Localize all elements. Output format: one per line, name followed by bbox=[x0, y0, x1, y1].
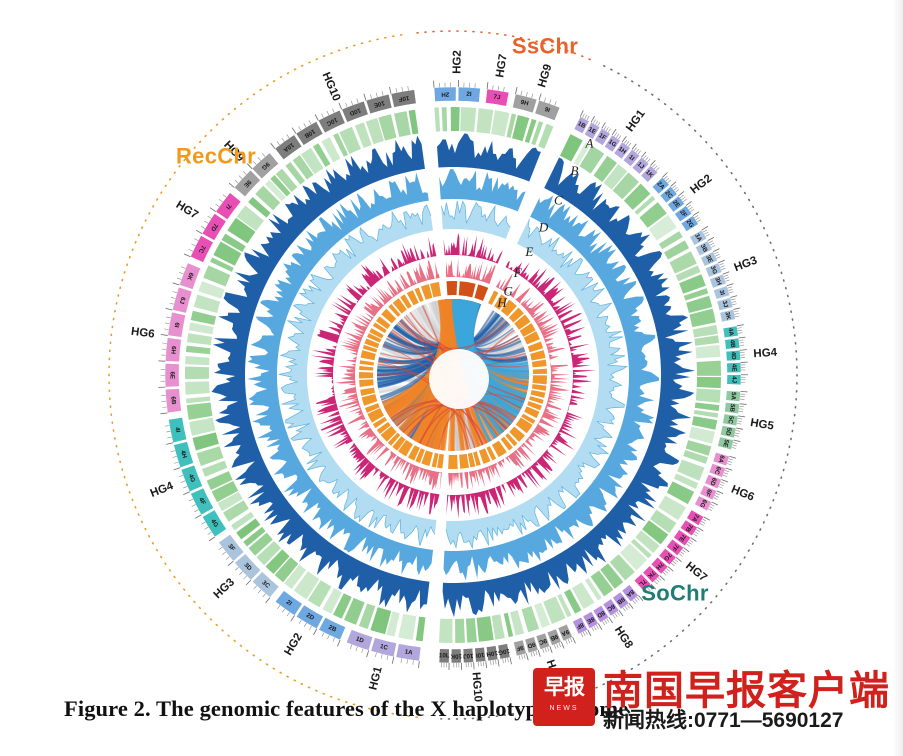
ideogram-tick bbox=[277, 141, 280, 145]
track-letter-b: B bbox=[570, 163, 578, 178]
ideogram-tick bbox=[686, 544, 690, 547]
hg-label: HG2 bbox=[451, 50, 463, 74]
ideogram-tick bbox=[304, 623, 306, 627]
ideogram-tick bbox=[570, 638, 572, 642]
ideogram-major-tick bbox=[736, 428, 743, 429]
gene-density-block bbox=[455, 619, 465, 643]
sv-block bbox=[532, 360, 547, 368]
ideogram-tick bbox=[716, 493, 720, 495]
ideogram-tick bbox=[508, 658, 509, 662]
ideogram-tick bbox=[694, 215, 698, 217]
ideogram-major-tick bbox=[712, 502, 718, 505]
ideogram-tick bbox=[709, 241, 713, 243]
sv-block bbox=[360, 388, 375, 396]
ideogram-tick bbox=[327, 635, 329, 639]
ideogram-tick bbox=[624, 140, 627, 144]
ideogram-tick bbox=[689, 540, 693, 543]
ideogram-tick bbox=[408, 86, 409, 90]
ideogram-tick bbox=[636, 149, 639, 152]
hg-label: HG4 bbox=[149, 480, 176, 500]
ideogram-tick bbox=[714, 498, 718, 500]
ideogram-tick bbox=[177, 278, 181, 279]
gene-density-block bbox=[191, 311, 216, 325]
gene-density-block bbox=[466, 618, 477, 643]
ideogram-tick bbox=[533, 652, 534, 656]
ideogram-tick bbox=[618, 136, 621, 140]
ideogram-major-tick bbox=[516, 87, 518, 94]
ideogram-tick bbox=[401, 658, 402, 662]
ideogram-tick bbox=[536, 651, 537, 655]
ideogram-tick bbox=[739, 340, 743, 341]
ideogram-major-tick bbox=[702, 226, 708, 230]
track-letter-e: E bbox=[524, 244, 533, 259]
ideogram-tick bbox=[666, 568, 669, 571]
ideogram-tick bbox=[681, 552, 685, 555]
ideogram-tick bbox=[627, 605, 630, 609]
ideogram-tick bbox=[235, 180, 238, 183]
ideogram-tick bbox=[635, 599, 638, 602]
ideogram-tick bbox=[504, 87, 505, 91]
gene-density-block bbox=[697, 361, 721, 376]
ideogram-tick bbox=[554, 645, 556, 649]
ideogram-major-tick bbox=[166, 308, 173, 310]
ideogram-tick bbox=[235, 567, 238, 570]
ideogram-tick bbox=[587, 116, 589, 120]
ideogram-tick bbox=[545, 648, 546, 652]
ideogram-tick bbox=[362, 649, 363, 653]
ideogram-major-tick bbox=[486, 661, 487, 668]
ideogram-tick bbox=[493, 85, 494, 89]
ideogram-tick bbox=[171, 451, 175, 452]
ideogram-band-label: 6B bbox=[169, 396, 177, 405]
ideogram-tick bbox=[557, 644, 559, 648]
sv-block bbox=[437, 454, 444, 469]
ideogram-band-label: 6E bbox=[168, 371, 175, 379]
gene-density-block bbox=[394, 111, 411, 137]
ideogram-tick bbox=[396, 88, 397, 92]
figure-root: 1A1C1D2B2D2I3C3D3F4G4F4G4H4I6B6E6H6I6J6K… bbox=[0, 0, 903, 756]
gene-density-block bbox=[442, 107, 447, 131]
track-letter-d: D bbox=[538, 220, 549, 235]
ideogram-tick bbox=[205, 527, 209, 529]
ideogram-tick bbox=[737, 328, 741, 329]
ideogram-major-tick bbox=[161, 334, 168, 335]
ideogram-major-tick bbox=[173, 283, 180, 285]
ideogram-tick bbox=[734, 311, 738, 312]
ideogram-tick bbox=[709, 506, 713, 508]
ideogram-tick bbox=[721, 268, 725, 270]
ideogram-band-label: 10J bbox=[462, 652, 473, 660]
ideogram-tick bbox=[547, 647, 548, 651]
ideogram-tick bbox=[596, 121, 598, 125]
ideogram-tick bbox=[583, 632, 585, 636]
ideogram-tick bbox=[735, 433, 739, 434]
ideogram-tick bbox=[204, 221, 208, 223]
ideogram-tick bbox=[263, 594, 266, 597]
gene-density-block bbox=[697, 377, 721, 388]
ideogram-tick bbox=[682, 197, 686, 200]
ideogram-tick bbox=[171, 297, 175, 298]
sv-block bbox=[474, 284, 488, 300]
sv-block bbox=[459, 454, 469, 469]
ideogram-tick bbox=[351, 101, 353, 105]
track-letter-a: A bbox=[584, 136, 593, 151]
gene-density-block bbox=[693, 325, 718, 337]
gene-density-block bbox=[696, 389, 721, 403]
snp-density-spikes bbox=[443, 233, 502, 264]
ideogram-tick bbox=[181, 267, 185, 269]
ideogram-band-label: 4E bbox=[730, 364, 737, 372]
ideogram-tick bbox=[495, 660, 496, 664]
ideogram-major-tick bbox=[713, 249, 719, 252]
ideogram-tick bbox=[376, 93, 377, 97]
ideogram-tick bbox=[381, 654, 382, 658]
ideogram-tick bbox=[582, 114, 584, 118]
ideogram-major-tick bbox=[721, 479, 728, 482]
ideogram-tick bbox=[613, 615, 615, 619]
group-label-sochr: SoChr bbox=[641, 581, 709, 606]
ideogram-band-label: 10K bbox=[450, 652, 462, 659]
ideogram-tick bbox=[370, 94, 371, 98]
ideogram-tick bbox=[239, 572, 242, 575]
ideogram-major-tick bbox=[727, 284, 734, 286]
ideogram-major-tick bbox=[718, 260, 724, 263]
ideogram-tick bbox=[287, 134, 290, 138]
gene-density-block bbox=[416, 617, 426, 642]
ideogram-tick bbox=[680, 195, 684, 198]
ideogram-tick bbox=[679, 554, 683, 557]
group-label-sschr: SsChr bbox=[512, 34, 578, 59]
ideogram-tick bbox=[737, 423, 741, 424]
ideogram-major-tick bbox=[174, 468, 181, 470]
ideogram-tick bbox=[652, 164, 655, 167]
ideogram-tick bbox=[723, 475, 727, 477]
gene-density-block bbox=[186, 396, 210, 403]
ideogram-tick bbox=[719, 263, 723, 265]
gene-density-block bbox=[491, 110, 509, 136]
ideogram-major-tick bbox=[315, 114, 318, 120]
ideogram-tick bbox=[165, 323, 169, 324]
gene-density-block bbox=[187, 402, 213, 419]
hg-label: HG2 bbox=[688, 173, 714, 197]
ideogram-major-tick bbox=[598, 624, 602, 630]
ideogram-tick bbox=[194, 510, 198, 512]
ideogram-band-label: 4J bbox=[730, 376, 737, 384]
gene-density-block bbox=[439, 619, 453, 643]
ideogram-band-label: 4B bbox=[728, 339, 736, 348]
ideogram-major-tick bbox=[291, 615, 295, 621]
gene-density-block bbox=[510, 610, 524, 635]
ideogram-tick bbox=[735, 435, 739, 436]
ideogram-tick bbox=[729, 459, 733, 460]
hg-label: HG8 bbox=[612, 624, 635, 651]
ideogram-tick bbox=[332, 109, 334, 113]
ideogram-tick bbox=[521, 91, 522, 95]
ideogram-major-tick bbox=[337, 640, 340, 646]
ideogram-major-tick bbox=[510, 657, 511, 664]
ideogram-tick bbox=[645, 157, 648, 160]
hg-label: HG3 bbox=[733, 255, 759, 275]
ideogram-tick bbox=[243, 576, 246, 579]
gene-density-block bbox=[185, 381, 210, 394]
ideogram-tick bbox=[696, 529, 700, 531]
hg-label: HG6 bbox=[729, 484, 755, 504]
ideogram-tick bbox=[732, 304, 736, 305]
ideogram-tick bbox=[623, 608, 626, 612]
ideogram-tick bbox=[594, 626, 596, 630]
ideogram-tick bbox=[602, 621, 604, 625]
ideogram-tick bbox=[309, 626, 311, 630]
gene-density-block bbox=[194, 295, 220, 313]
gene-density-block bbox=[477, 616, 494, 642]
ideogram-major-tick bbox=[418, 661, 419, 668]
ideogram-tick bbox=[725, 277, 729, 279]
ideogram-tick bbox=[664, 176, 667, 179]
ideogram-tick bbox=[724, 473, 728, 475]
sv-block bbox=[360, 360, 374, 365]
sv-block bbox=[530, 350, 545, 360]
ideogram-tick bbox=[524, 654, 525, 658]
sv-block bbox=[531, 390, 546, 398]
ideogram-major-tick bbox=[474, 662, 475, 669]
ideogram-tick bbox=[731, 299, 735, 300]
track-letter-c: C bbox=[554, 193, 563, 208]
gene-density-block bbox=[409, 110, 419, 135]
group-label-recchr: RecChr bbox=[176, 144, 256, 169]
ideogram-tick bbox=[201, 226, 205, 228]
ideogram-tick bbox=[700, 523, 704, 525]
ideogram-tick bbox=[711, 245, 715, 247]
ideogram-tick bbox=[693, 534, 697, 536]
gene-density-block bbox=[398, 614, 416, 640]
ideogram-tick bbox=[614, 133, 617, 137]
ideogram-major-tick bbox=[196, 230, 202, 233]
gene-density-block bbox=[692, 416, 717, 430]
ideogram-tick bbox=[720, 484, 724, 486]
ideogram-tick bbox=[192, 504, 196, 506]
ideogram-tick bbox=[498, 86, 499, 90]
ideogram-major-tick bbox=[697, 527, 703, 531]
ideogram-tick bbox=[216, 204, 220, 207]
gene-density-block bbox=[460, 107, 476, 132]
ideogram-major-tick bbox=[292, 128, 296, 134]
watermark-badge-main: 早报 bbox=[533, 668, 595, 698]
ideogram-tick bbox=[690, 209, 694, 212]
ideogram-tick bbox=[672, 185, 675, 188]
ideogram-band-label: 4A bbox=[727, 327, 735, 336]
ideogram-tick bbox=[643, 155, 646, 158]
ideogram-tick bbox=[333, 638, 335, 642]
ideogram-tick bbox=[357, 99, 358, 103]
ideogram-major-tick bbox=[591, 116, 594, 122]
ideogram-tick bbox=[375, 653, 376, 657]
ideogram-tick bbox=[169, 303, 173, 304]
ideogram-major-tick bbox=[210, 208, 216, 212]
ideogram-tick bbox=[719, 486, 723, 488]
ideogram-tick bbox=[715, 254, 719, 256]
ideogram-tick bbox=[299, 127, 301, 131]
ideogram-tick bbox=[636, 597, 639, 600]
gene-density-block bbox=[476, 108, 493, 134]
ideogram-tick bbox=[179, 272, 183, 274]
ideogram-tick bbox=[710, 504, 714, 506]
te-density-area bbox=[441, 201, 510, 239]
ideogram-tick bbox=[710, 243, 714, 245]
ideogram-tick bbox=[704, 232, 708, 234]
ideogram-tick bbox=[732, 447, 736, 448]
ideogram-tick bbox=[735, 316, 739, 317]
ideogram-tick bbox=[701, 521, 705, 523]
ideogram-tick bbox=[219, 199, 223, 202]
ideogram-tick bbox=[568, 639, 570, 643]
ideogram-band-label: 10L bbox=[439, 652, 450, 659]
ideogram-tick bbox=[189, 249, 193, 251]
ideogram-tick bbox=[413, 660, 414, 664]
ideogram-tick bbox=[737, 421, 741, 422]
ideogram-major-tick bbox=[229, 183, 234, 188]
ideogram-tick bbox=[162, 407, 166, 408]
ideogram-tick bbox=[663, 572, 666, 575]
ideogram-tick bbox=[673, 561, 676, 564]
ideogram-tick bbox=[703, 230, 707, 232]
ideogram-tick bbox=[254, 586, 257, 589]
ideogram-tick bbox=[382, 91, 383, 95]
ideogram-tick bbox=[566, 640, 568, 644]
ideogram-tick bbox=[676, 189, 679, 192]
ideogram-tick bbox=[665, 570, 668, 573]
ideogram-tick bbox=[738, 333, 742, 334]
ideogram-tick bbox=[287, 612, 290, 616]
ideogram-tick bbox=[608, 129, 610, 133]
ideogram-major-tick bbox=[734, 440, 741, 442]
ideogram-tick bbox=[194, 239, 198, 241]
ideogram-tick bbox=[166, 317, 170, 318]
ribbon-center-hole bbox=[429, 349, 489, 409]
ideogram-tick bbox=[725, 280, 729, 281]
ideogram-tick bbox=[728, 461, 732, 462]
ideogram-tick bbox=[258, 590, 261, 593]
page-edge-shadow bbox=[893, 0, 903, 756]
hg-label: HG10 bbox=[320, 71, 343, 103]
ideogram-major-tick bbox=[161, 413, 168, 414]
ideogram-tick bbox=[739, 411, 743, 412]
ideogram-tick bbox=[616, 134, 619, 138]
ideogram-tick bbox=[706, 234, 710, 236]
ideogram-tick bbox=[716, 257, 720, 259]
ideogram-major-tick bbox=[184, 254, 190, 257]
ideogram-band-label: 4D bbox=[730, 352, 738, 361]
ideogram-tick bbox=[596, 625, 598, 629]
ideogram-tick bbox=[687, 205, 691, 208]
ideogram-major-tick bbox=[498, 659, 499, 666]
ideogram-tick bbox=[732, 301, 736, 302]
ideogram-tick bbox=[181, 481, 185, 483]
sv-block bbox=[448, 455, 458, 469]
gene-density-block bbox=[187, 333, 212, 345]
ideogram-tick bbox=[696, 217, 700, 219]
sv-block bbox=[421, 284, 432, 300]
ideogram-tick bbox=[223, 195, 227, 198]
synteny-ribbon-layer bbox=[375, 297, 531, 453]
ideogram-tick bbox=[727, 463, 731, 464]
ideogram-tick bbox=[493, 660, 494, 664]
hg-label: HG1 bbox=[624, 107, 648, 134]
ideogram-band-label: 10I bbox=[475, 651, 485, 659]
gene-density-block bbox=[492, 614, 505, 639]
ideogram-tick bbox=[615, 613, 618, 617]
ideogram-tick bbox=[239, 176, 242, 179]
ideogram-major-tick bbox=[588, 630, 591, 636]
ideogram-band-label: 6H bbox=[169, 346, 177, 355]
watermark-badge-sub: NEWS bbox=[533, 698, 595, 712]
ideogram-tick bbox=[282, 138, 285, 142]
track-letter-h: H bbox=[496, 295, 507, 310]
watermark-hotline: 新闻热线:0771—5690127 bbox=[603, 704, 843, 734]
gene-density-block bbox=[185, 366, 209, 379]
ideogram-major-tick bbox=[389, 87, 391, 94]
ideogram-tick bbox=[674, 187, 677, 190]
ideogram-tick bbox=[598, 122, 600, 126]
gene-density-block bbox=[185, 356, 209, 365]
ideogram-tick bbox=[166, 431, 170, 432]
ideogram-tick bbox=[172, 456, 176, 457]
ideogram-tick bbox=[625, 606, 628, 610]
ideogram-tick bbox=[604, 126, 606, 130]
ideogram-major-tick bbox=[737, 325, 744, 326]
ideogram-tick bbox=[299, 620, 301, 624]
ideogram-tick bbox=[491, 661, 492, 665]
watermark-badge: 早报 NEWS bbox=[533, 668, 595, 726]
gene-density-block bbox=[186, 346, 210, 355]
ideogram-tick bbox=[697, 220, 701, 222]
ideogram-tick bbox=[407, 659, 408, 663]
ideogram-major-tick bbox=[313, 629, 316, 635]
ideogram-major-tick bbox=[740, 350, 747, 351]
ideogram-tick bbox=[606, 127, 608, 131]
ideogram-tick bbox=[728, 287, 732, 288]
ideogram-tick bbox=[674, 559, 677, 562]
ideogram-tick bbox=[179, 475, 183, 477]
sv-block bbox=[359, 372, 373, 379]
gene-density-block bbox=[694, 410, 718, 418]
ideogram-tick bbox=[208, 532, 212, 534]
ideogram-tick bbox=[634, 147, 637, 151]
ideogram-tick bbox=[739, 409, 743, 410]
gene-density-block bbox=[695, 402, 720, 411]
ideogram-major-tick bbox=[708, 237, 714, 240]
caption-row: Figure 2. The genomic features of the X … bbox=[0, 686, 903, 748]
indel-density-spikes bbox=[446, 258, 496, 284]
ideogram-tick bbox=[638, 151, 641, 154]
ideogram-tick bbox=[695, 532, 699, 534]
ideogram-tick bbox=[322, 632, 324, 636]
ideogram-major-tick bbox=[183, 492, 189, 495]
ideogram-tick bbox=[532, 94, 533, 98]
ideogram-tick bbox=[729, 292, 733, 293]
ideogram-tick bbox=[522, 655, 523, 659]
ideogram-tick bbox=[519, 655, 520, 659]
ideogram-tick bbox=[656, 167, 659, 170]
ideogram-major-tick bbox=[704, 517, 710, 520]
ideogram-major-tick bbox=[487, 82, 488, 89]
ideogram-tick bbox=[724, 275, 728, 277]
ideogram-tick bbox=[593, 120, 595, 124]
track-letter-f: F bbox=[513, 265, 523, 280]
ideogram-tick bbox=[592, 627, 594, 631]
hg-label: HG2 bbox=[283, 631, 305, 657]
ideogram-tick bbox=[671, 563, 674, 566]
hg-label: HG9 bbox=[536, 63, 554, 89]
